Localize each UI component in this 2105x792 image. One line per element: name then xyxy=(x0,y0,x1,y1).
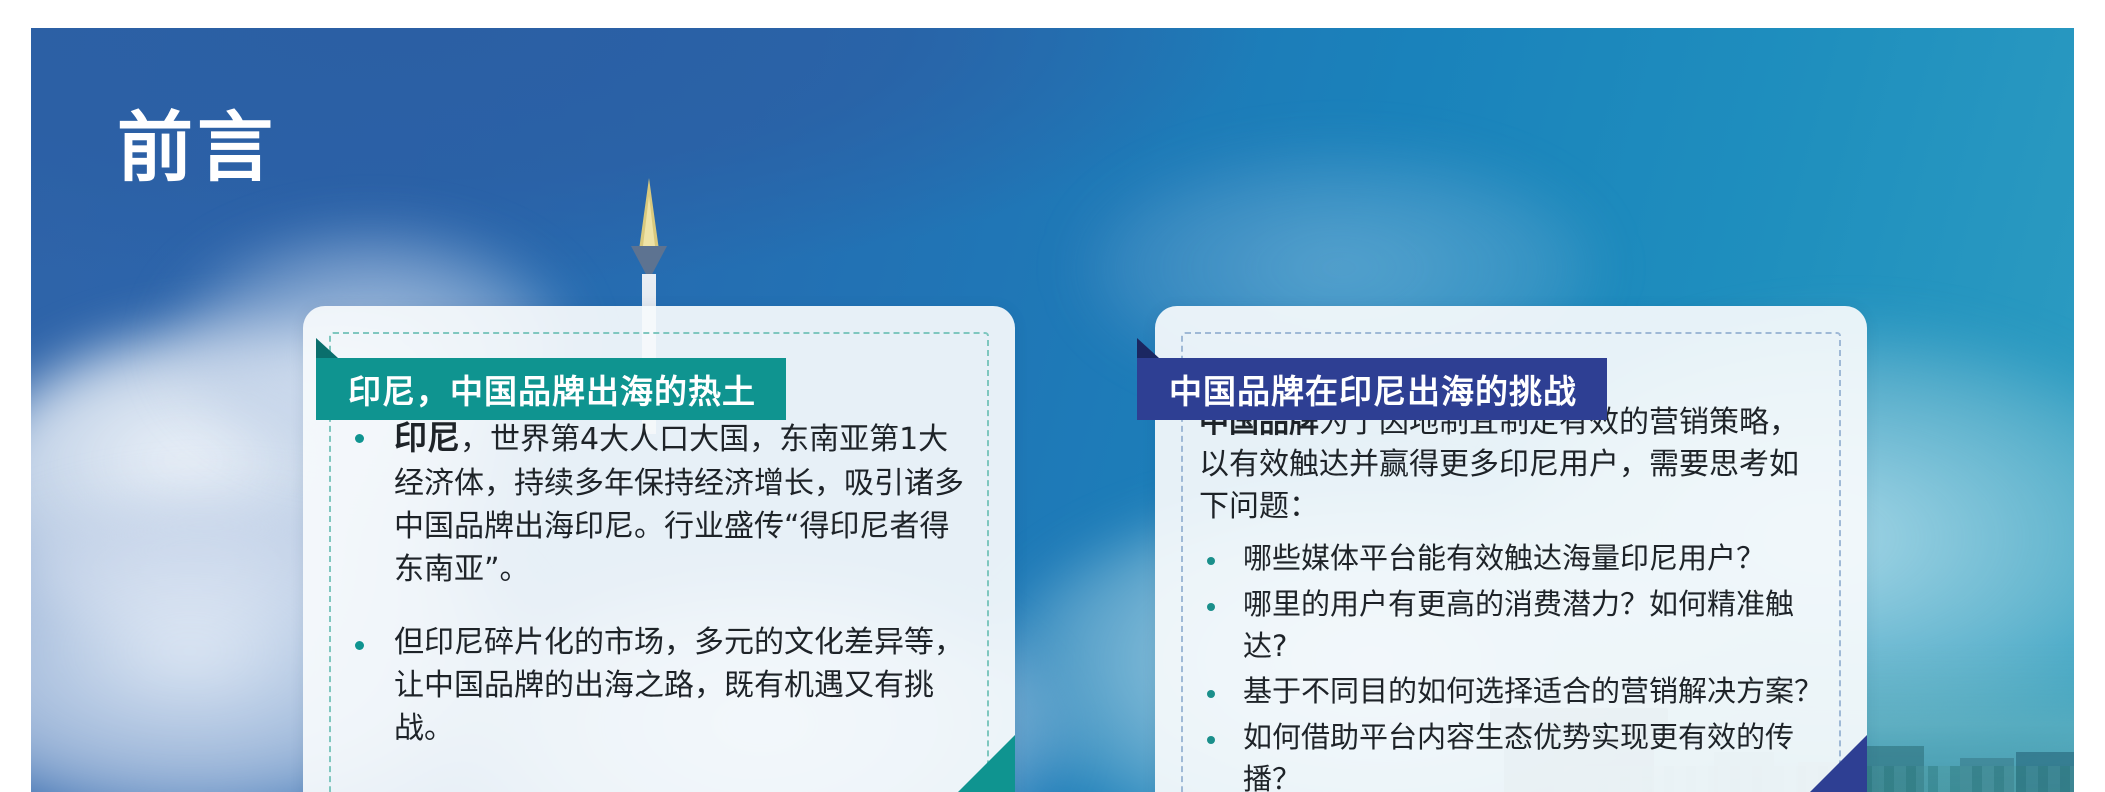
bullet-rest-1: ，世界第4大人口大国，东南亚第1大经济体，持续多年保持经济增长，吸引诸多中国品牌… xyxy=(394,422,964,587)
bullet-dot-icon xyxy=(355,434,364,443)
card-right-corner-fold xyxy=(1781,735,1867,792)
list-item: 印尼，世界第4大人口大国，东南亚第1大经济体，持续多年保持经济增长，吸引诸多中国… xyxy=(355,414,971,591)
bullet-dot-icon xyxy=(1207,690,1215,698)
list-item: 哪些媒体平台能有效触达海量印尼用户？ xyxy=(1199,538,1827,580)
card-right-banner-label: 中国品牌在印尼出海的挑战 xyxy=(1169,365,1577,413)
question-text-1: 哪些媒体平台能有效触达海量印尼用户？ xyxy=(1243,538,1827,580)
banner-ribbon-tail xyxy=(316,338,338,358)
bullet-dot-icon xyxy=(1207,736,1215,744)
bullet-rest-2: 但印尼碎片化的市场，多元的文化差异等，让中国品牌的出海之路，既有机遇又有挑战。 xyxy=(394,625,964,746)
bullet-dot-icon xyxy=(1207,557,1215,565)
question-text-3: 基于不同目的如何选择适合的营销解决方案？ xyxy=(1243,671,1827,713)
question-text-2: 哪里的用户有更高的消费潜力？如何精准触达? xyxy=(1243,584,1827,668)
card-left-banner-label: 印尼，中国品牌出海的热土 xyxy=(348,365,756,413)
list-item: 基于不同目的如何选择适合的营销解决方案？ xyxy=(1199,671,1827,713)
bullet-text-2: 但印尼碎片化的市场，多元的文化差异等，让中国品牌的出海之路，既有机遇又有挑战。 xyxy=(394,621,971,751)
list-item: 如何借助平台内容生态优势实现更有效的传播？ xyxy=(1199,717,1827,792)
bullet-text-1: 印尼，世界第4大人口大国，东南亚第1大经济体，持续多年保持经济增长，吸引诸多中国… xyxy=(394,414,971,591)
question-text-4: 如何借助平台内容生态优势实现更有效的传播？ xyxy=(1243,717,1827,792)
card-left-banner: 印尼，中国品牌出海的热土 xyxy=(316,358,786,420)
bullet-lead-1: 印尼 xyxy=(394,418,460,457)
question-list: 哪些媒体平台能有效触达海量印尼用户？ 哪里的用户有更高的消费潜力？如何精准触达?… xyxy=(1199,538,1827,792)
banner-ribbon-tail xyxy=(1137,338,1159,358)
list-item: 但印尼碎片化的市场，多元的文化差异等，让中国品牌的出海之路，既有机遇又有挑战。 xyxy=(355,621,971,751)
card-left-body: 印尼，世界第4大人口大国，东南亚第1大经济体，持续多年保持经济增长，吸引诸多中国… xyxy=(355,414,971,781)
card-right-intro: 中国品牌为了因地制宜制定有效的营销策略，以有效触达并赢得更多印尼用户，需要思考如… xyxy=(1199,402,1827,528)
bullet-dot-icon xyxy=(355,641,364,650)
page-title: 前言 xyxy=(117,110,277,186)
card-right-banner: 中国品牌在印尼出海的挑战 xyxy=(1137,358,1607,420)
monument-flame-inner xyxy=(643,196,655,246)
slide-canvas: 前言 印尼，世界第4大人口大国，东南亚第1大经济体，持续多年保持经济增长，吸引诸… xyxy=(31,28,2074,792)
list-item: 哪里的用户有更高的消费潜力？如何精准触达? xyxy=(1199,584,1827,668)
bullet-dot-icon xyxy=(1207,603,1215,611)
card-left-corner-fold xyxy=(929,735,1015,792)
card-right-body: 中国品牌为了因地制宜制定有效的营销策略，以有效触达并赢得更多印尼用户，需要思考如… xyxy=(1199,402,1827,792)
